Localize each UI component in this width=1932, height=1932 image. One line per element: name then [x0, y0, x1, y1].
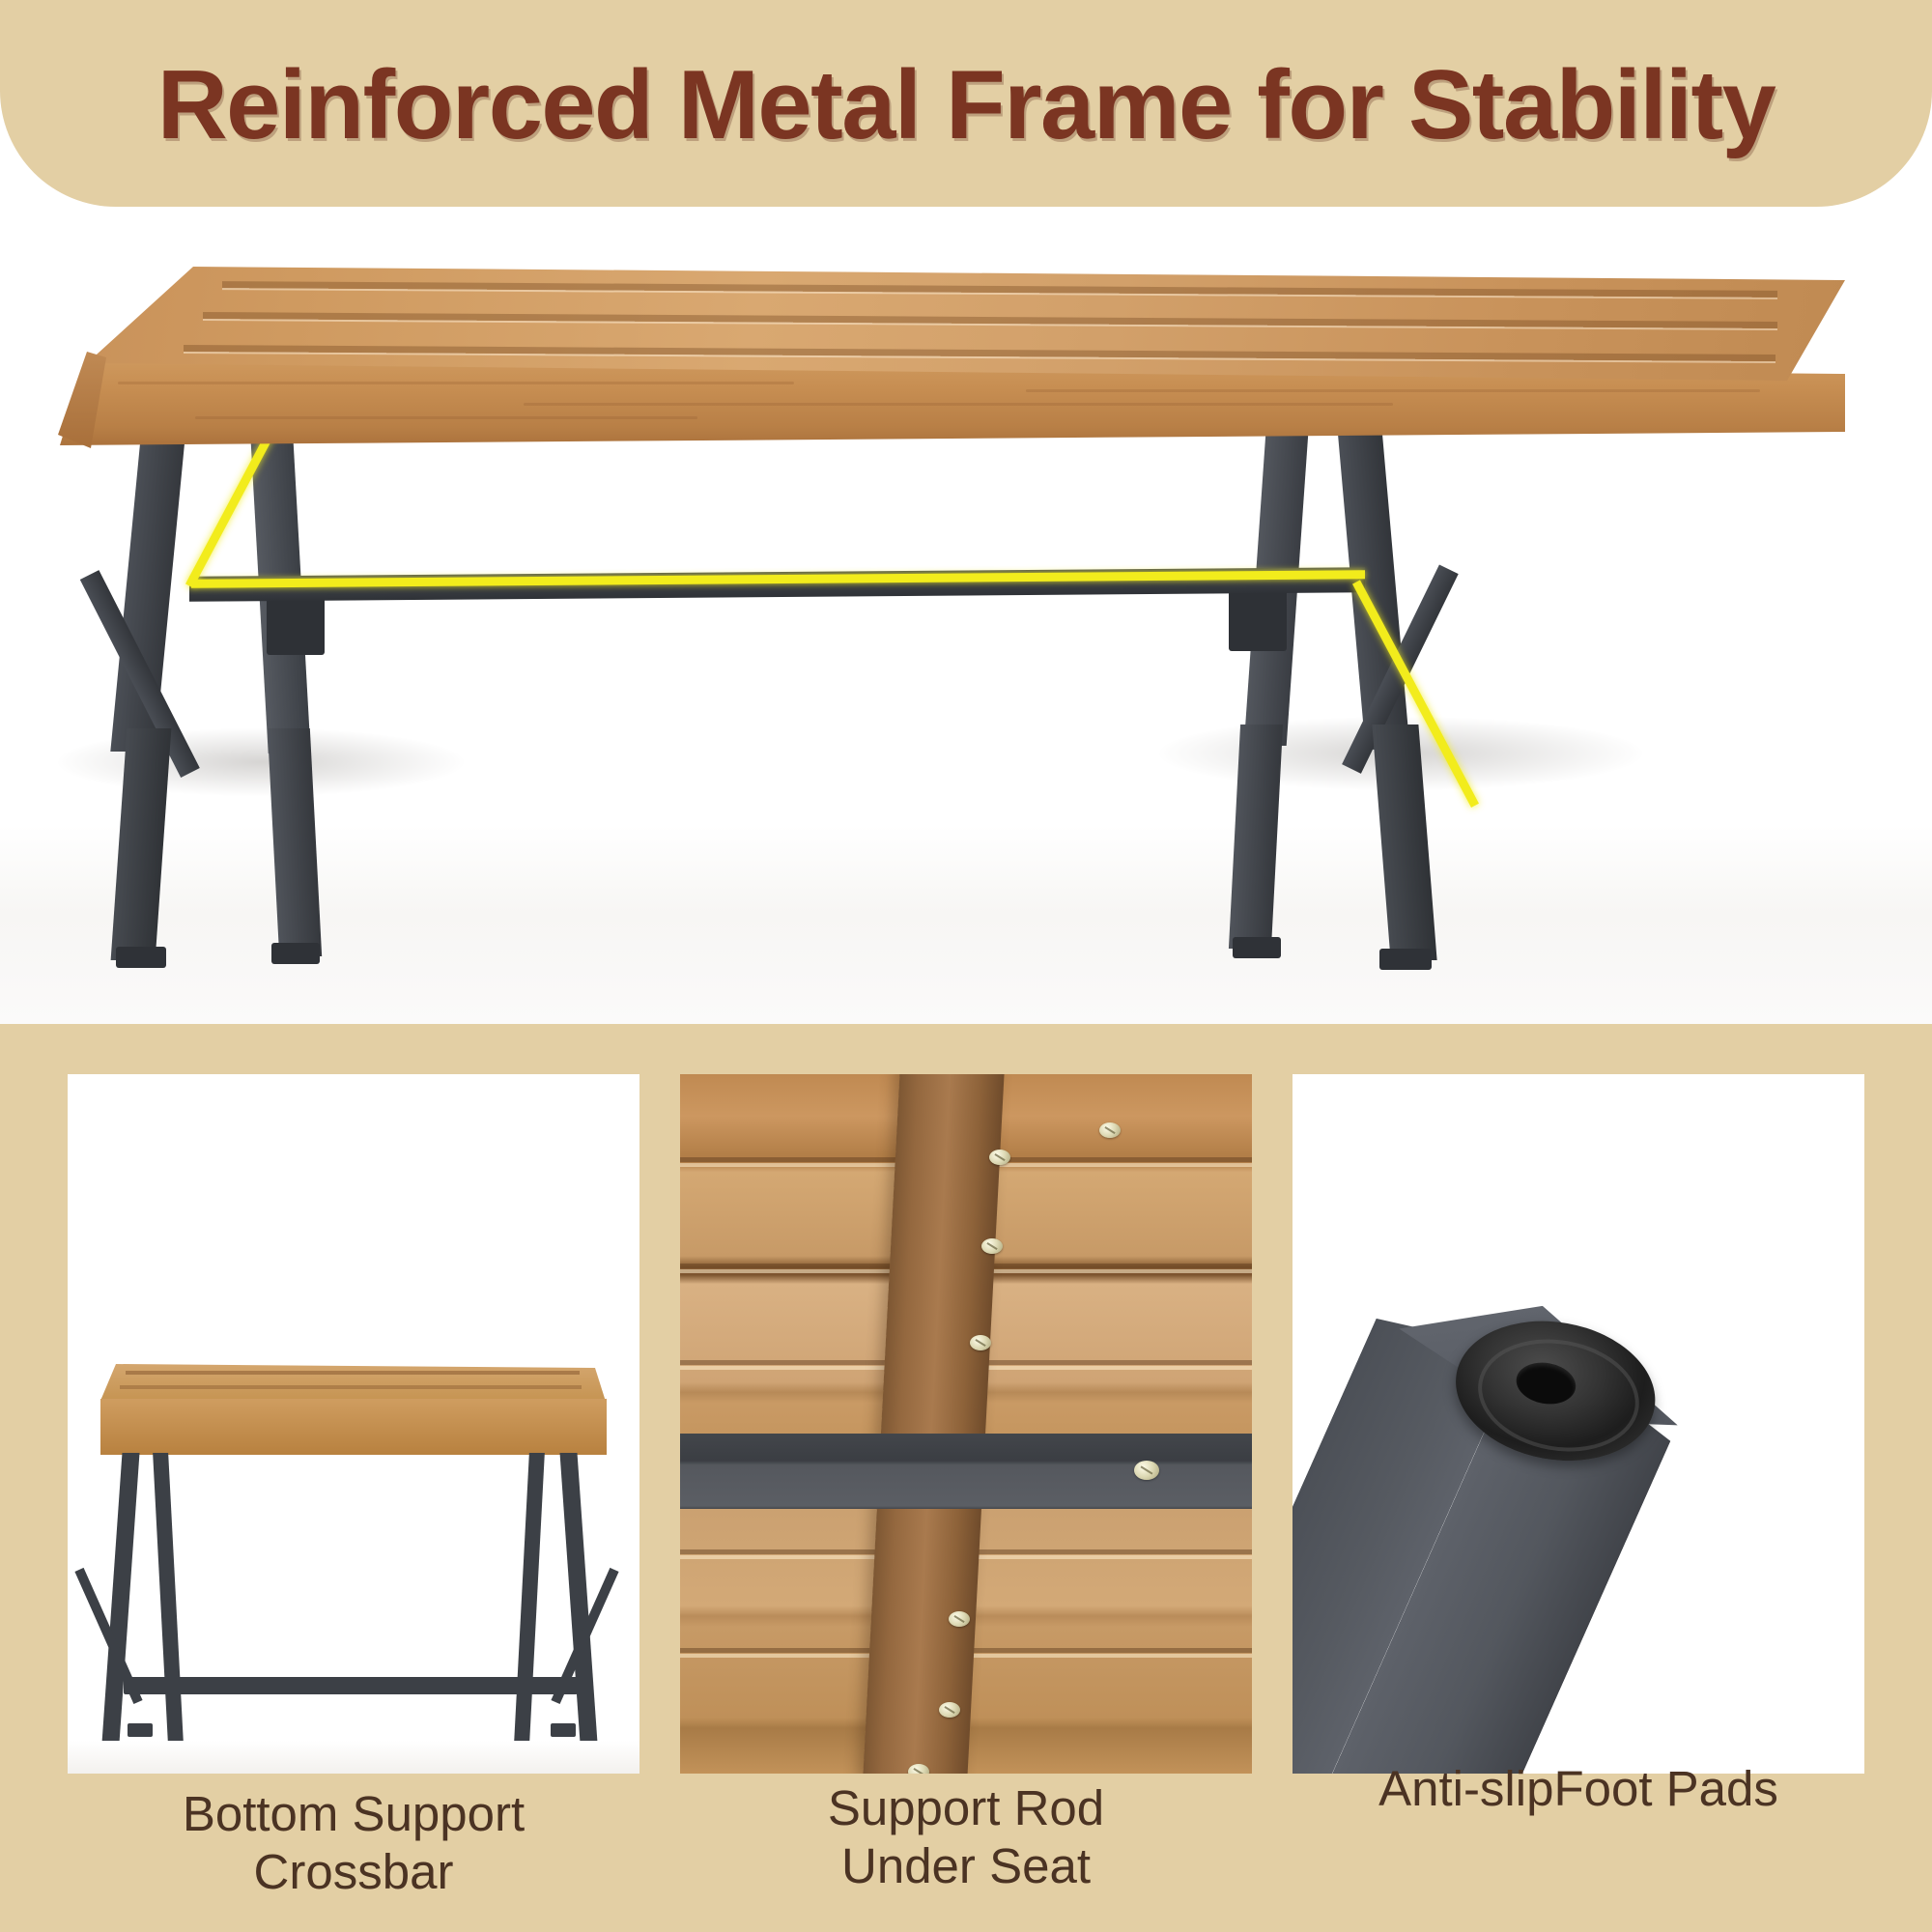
panel2-metal-support-rod: [680, 1434, 1252, 1509]
panel2-screw: [949, 1611, 970, 1627]
bench-slat-groove: [203, 312, 1777, 328]
page-title: Reinforced Metal Frame for Stability: [157, 57, 1776, 155]
bench-slat-groove: [222, 281, 1777, 298]
caption-line-1: Bottom Support: [68, 1785, 639, 1843]
detail-panels-strip: Bottom Support Crossbar Support Rod Unde…: [0, 1024, 1932, 1932]
caption-line-1: Support Rod: [680, 1779, 1252, 1837]
detail-panel-bottom-support-crossbar[interactable]: [68, 1074, 639, 1774]
panel3-metal-leg-tube: [1293, 1246, 1699, 1774]
panel2-screw: [1099, 1122, 1121, 1138]
caption-line-2: Crossbar: [68, 1843, 639, 1901]
header-banner: Reinforced Metal Frame for Stability: [0, 0, 1932, 207]
bench-foot-pad-left-inner: [271, 943, 320, 964]
caption-anti-slip-foot-pads: Anti-slipFoot Pads: [1293, 1760, 1864, 1818]
detail-panel-support-rod-under-seat[interactable]: [680, 1074, 1252, 1774]
bench-leg-right-junction-block: [1229, 585, 1287, 651]
caption-line-2: Under Seat: [680, 1837, 1252, 1895]
panel1-foot-pad-left: [128, 1723, 153, 1737]
panel2-screw: [908, 1764, 929, 1774]
panel2-screw: [989, 1150, 1010, 1165]
panel1-floor-gradient: [68, 1741, 639, 1774]
panel2-screw: [1134, 1461, 1159, 1480]
bench-slat-groove: [184, 345, 1776, 361]
hero-bench-image: [0, 207, 1932, 1024]
panel1-seat-groove: [120, 1385, 582, 1389]
panel1-bottom-support-crossbar: [124, 1677, 578, 1694]
bench-foot-pad-right-outer: [1379, 949, 1432, 970]
bench-foot-pad-left-outer: [116, 947, 166, 968]
panel1-seat-groove: [126, 1371, 580, 1375]
caption-bottom-support-crossbar: Bottom Support Crossbar: [68, 1785, 639, 1901]
panel2-screw: [970, 1335, 991, 1350]
panel2-screw: [981, 1238, 1003, 1254]
detail-panel-anti-slip-foot-pads[interactable]: [1293, 1074, 1864, 1774]
caption-line-1: Anti-slipFoot Pads: [1293, 1760, 1864, 1818]
caption-support-rod-under-seat: Support Rod Under Seat: [680, 1779, 1252, 1895]
bench-top-surface: [87, 267, 1845, 381]
bench-foot-pad-right-inner: [1233, 937, 1281, 958]
panel1-foot-pad-right: [551, 1723, 576, 1737]
panel2-screw: [939, 1702, 960, 1718]
panel1-bench-seat-front: [100, 1399, 607, 1455]
panel1-leg-left-inner: [153, 1453, 184, 1743]
panel1-leg-right-inner: [514, 1453, 545, 1743]
panel1-leg-right-outer: [560, 1453, 598, 1743]
